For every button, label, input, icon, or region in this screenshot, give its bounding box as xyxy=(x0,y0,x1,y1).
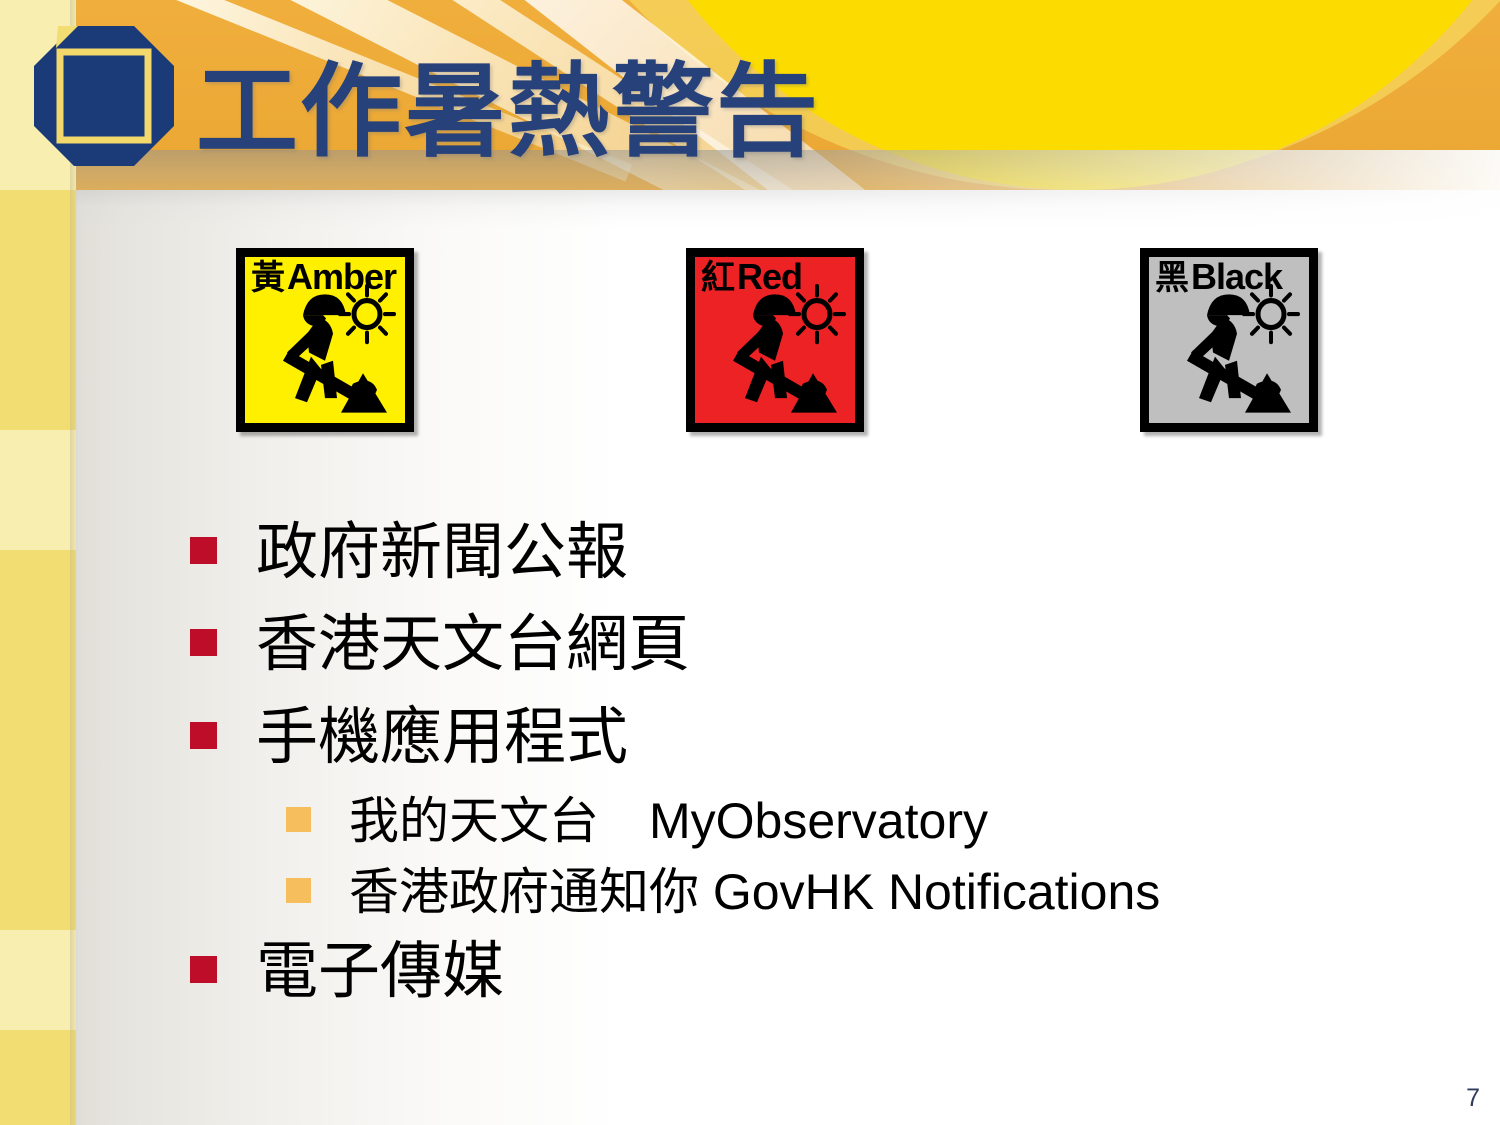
signal-label-chinese: 紅 xyxy=(701,261,735,295)
page-title: 工作暑熱警告 xyxy=(196,56,820,168)
bullet-marker-level1 xyxy=(190,537,217,564)
signal-label-chinese: 黃 xyxy=(251,261,285,295)
list-item-sub: 香港政府通知你 GovHK Notifications xyxy=(190,860,1450,925)
bullet-marker-level1 xyxy=(190,629,217,656)
labour-department-logo xyxy=(30,22,178,170)
list-item: 電子傳媒 xyxy=(190,931,1450,1013)
signal-label-chinese: 黑 xyxy=(1155,261,1189,295)
list-item-label: 手機應用程式 xyxy=(256,697,628,779)
bullet-list: 政府新聞公報 香港天文台網頁 手機應用程式 我的天文台 MyObservator… xyxy=(190,512,1450,1024)
signal-icon-amber: 黃 Amber xyxy=(236,248,414,432)
signal-label-red: 紅 Red xyxy=(701,259,802,295)
list-item-label: 香港政府通知你 GovHK Notifications xyxy=(349,860,1160,925)
signal-label-english: Red xyxy=(737,259,802,295)
presentation-slide: 工作暑熱警告 xyxy=(0,0,1500,1125)
signal-icon-red: 紅 Red xyxy=(686,248,864,432)
bullet-marker-level2 xyxy=(286,878,311,903)
bullet-marker-level2 xyxy=(286,807,311,832)
list-item: 政府新聞公報 xyxy=(190,512,1450,594)
page-number: 7 xyxy=(1466,1084,1480,1113)
signal-label-amber: 黃 Amber xyxy=(251,259,396,295)
bullet-marker-level1 xyxy=(190,956,217,983)
list-item-label: 我的天文台 MyObservatory xyxy=(349,789,988,854)
list-item: 香港天文台網頁 xyxy=(190,604,1450,686)
signal-icon-black: 黑 Black xyxy=(1140,248,1318,432)
list-item-label: 電子傳媒 xyxy=(256,931,504,1013)
bullet-marker-level1 xyxy=(190,722,217,749)
list-item: 手機應用程式 xyxy=(190,697,1450,779)
signal-label-english: Amber xyxy=(287,259,396,295)
signal-label-english: Black xyxy=(1191,259,1282,295)
list-item-label: 政府新聞公報 xyxy=(256,512,628,594)
list-item-sub: 我的天文台 MyObservatory xyxy=(190,789,1450,854)
signal-label-black: 黑 Black xyxy=(1155,259,1282,295)
list-item-label: 香港天文台網頁 xyxy=(256,604,690,686)
